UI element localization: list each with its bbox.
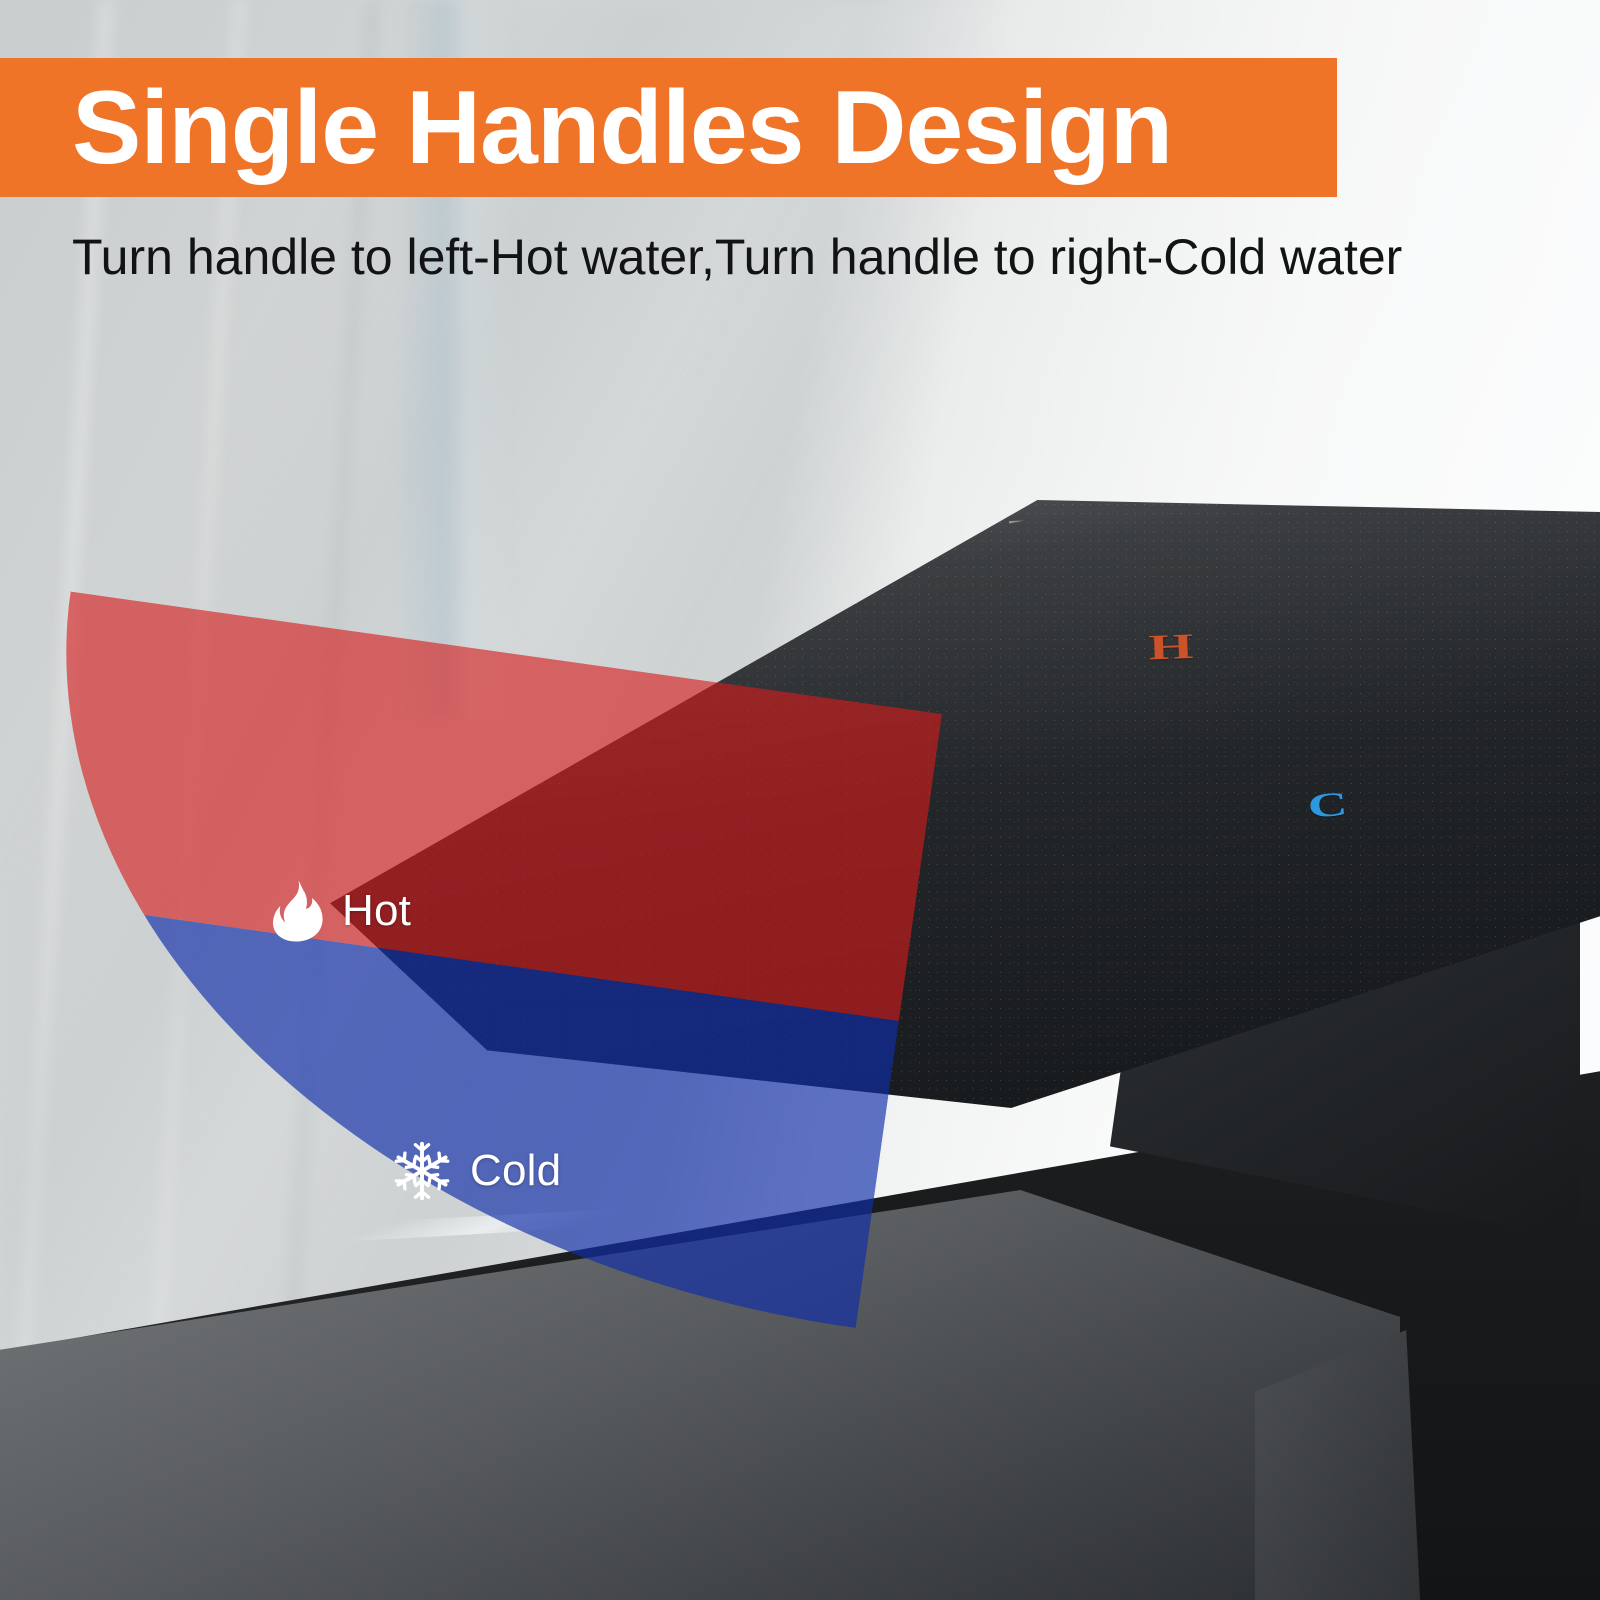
product-feature-image: H C Hot	[0, 0, 1600, 1600]
flame-icon	[272, 880, 324, 942]
snowflake-icon	[392, 1140, 452, 1202]
subtitle-text: Turn handle to left-Hot water,Turn handl…	[72, 228, 1532, 286]
cold-marking-c: C	[1307, 787, 1349, 824]
cold-label-text: Cold	[470, 1146, 561, 1196]
hot-label-group: Hot	[272, 880, 411, 942]
hot-marking-h: H	[1148, 628, 1194, 665]
cold-label-group: Cold	[392, 1140, 561, 1202]
header-banner: Single Handles Design	[0, 58, 1337, 197]
page-title: Single Handles Design	[72, 76, 1172, 180]
hot-label-text: Hot	[342, 886, 411, 936]
